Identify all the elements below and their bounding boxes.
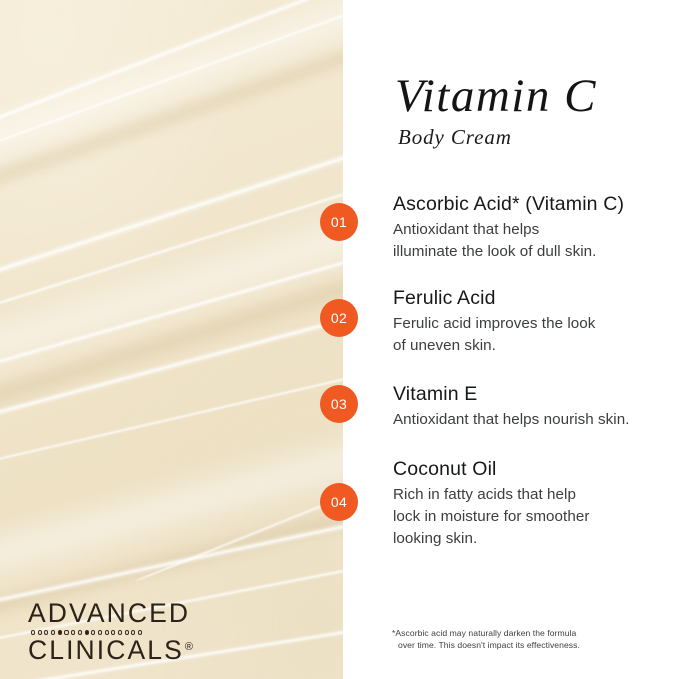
ingredient-desc-line: looking skin. xyxy=(393,528,679,550)
brand-logo-dot xyxy=(31,630,35,634)
ingredient-list: Ascorbic Acid* (Vitamin C) Antioxidant t… xyxy=(343,0,679,679)
ingredient-description: Ferulic acid improves the look of uneven… xyxy=(393,313,679,356)
ingredient-desc-line: Antioxidant that helps nourish skin. xyxy=(393,409,679,431)
brand-logo-dot xyxy=(85,630,89,634)
brand-logo-dot xyxy=(131,630,135,634)
footnote-line-2: over time. This doesn't impact its effec… xyxy=(398,640,632,652)
ingredient-item-04: Coconut Oil Rich in fatty acids that hel… xyxy=(393,457,679,549)
footnote: *Ascorbic acid may naturally darken the … xyxy=(392,628,632,652)
registered-trademark-icon: ® xyxy=(185,642,193,653)
brand-logo-dot xyxy=(58,630,62,634)
ingredient-name: Coconut Oil xyxy=(393,457,679,481)
brand-logo-dot xyxy=(118,630,122,634)
brand-logo-dot xyxy=(105,630,109,634)
cream-texture-image xyxy=(0,0,343,679)
ingredient-name: Ascorbic Acid* (Vitamin C) xyxy=(393,192,679,216)
brand-logo-dot xyxy=(71,630,75,634)
brand-logo-line2: CLINICALS xyxy=(28,637,184,664)
ingredient-badge-01: 01 xyxy=(320,203,358,241)
footnote-line-1: *Ascorbic acid may naturally darken the … xyxy=(392,628,632,640)
cream-base-gradient xyxy=(0,0,343,679)
ingredient-name: Vitamin E xyxy=(393,382,679,406)
brand-logo-dot xyxy=(91,630,95,634)
brand-logo-dot xyxy=(38,630,42,634)
ingredient-desc-line: illuminate the look of dull skin. xyxy=(393,241,679,263)
brand-logo: ADVANCED CLINICALS ® xyxy=(28,600,193,664)
ingredient-badge-03: 03 xyxy=(320,385,358,423)
ingredient-item-02: Ferulic Acid Ferulic acid improves the l… xyxy=(393,286,679,357)
ingredient-item-03: Vitamin E Antioxidant that helps nourish… xyxy=(393,382,679,431)
ingredient-name: Ferulic Acid xyxy=(393,286,679,310)
brand-logo-dot xyxy=(98,630,102,634)
brand-logo-dot xyxy=(78,630,82,634)
brand-logo-dot xyxy=(138,630,142,634)
ingredient-description: Antioxidant that helps nourish skin. xyxy=(393,409,679,431)
ingredient-desc-line: lock in moisture for smoother xyxy=(393,506,679,528)
brand-logo-line1: ADVANCED xyxy=(28,600,193,627)
brand-logo-dot xyxy=(64,630,68,634)
ingredient-desc-line: Ferulic acid improves the look xyxy=(393,313,679,335)
brand-logo-line2-row: CLINICALS ® xyxy=(28,637,193,664)
brand-logo-dot xyxy=(44,630,48,634)
product-infographic: ADVANCED CLINICALS ® Vitamin C Body Crea… xyxy=(0,0,679,679)
ingredient-desc-line: Antioxidant that helps xyxy=(393,219,679,241)
ingredient-badge-02: 02 xyxy=(320,299,358,337)
ingredient-badge-04: 04 xyxy=(320,483,358,521)
ingredient-description: Antioxidant that helps illuminate the lo… xyxy=(393,219,679,262)
ingredient-description: Rich in fatty acids that help lock in mo… xyxy=(393,484,679,549)
ingredient-desc-line: Rich in fatty acids that help xyxy=(393,484,679,506)
brand-logo-dot xyxy=(111,630,115,634)
content-column: Vitamin C Body Cream Ascorbic Acid* (Vit… xyxy=(343,0,679,679)
brand-logo-dot xyxy=(125,630,129,634)
ingredient-item-01: Ascorbic Acid* (Vitamin C) Antioxidant t… xyxy=(393,192,679,263)
ingredient-desc-line: of uneven skin. xyxy=(393,335,679,357)
brand-logo-dot xyxy=(51,630,55,634)
